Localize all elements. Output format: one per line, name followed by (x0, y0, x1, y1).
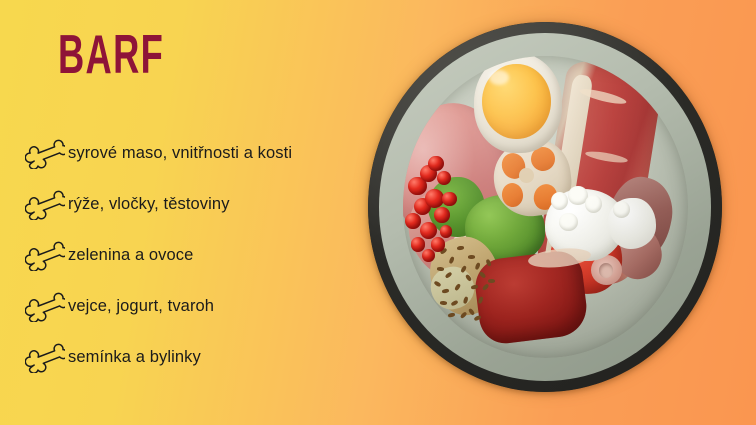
list-item-label: rýže, vločky, těstoviny (68, 195, 230, 214)
barf-components-list: syrové maso, vnitřnosti a kosti rýže, vl… (22, 128, 372, 383)
food-marrow-center (519, 168, 533, 183)
plate-surface (379, 33, 710, 381)
food-curd-lump (585, 195, 602, 213)
food-seed (448, 312, 456, 317)
food-cranberry (431, 237, 445, 251)
list-item: syrové maso, vnitřnosti a kosti (22, 128, 372, 179)
food-egg-yolk-highlight (489, 70, 509, 85)
food-cranberry (437, 171, 451, 185)
list-item: semínka a bylinky (22, 332, 372, 383)
list-item-label: syrové maso, vnitřnosti a kosti (68, 144, 292, 163)
list-item-label: vejce, jogurt, tvaroh (68, 297, 214, 316)
plate-of-raw-dog-food (368, 22, 722, 392)
list-item: zelenina a ovoce (22, 230, 372, 281)
food-cranberry (442, 192, 456, 206)
food-cranberry (425, 189, 444, 208)
plate-well (403, 56, 688, 358)
list-item: vejce, jogurt, tvaroh (22, 281, 372, 332)
bone-icon (22, 290, 68, 324)
list-item-label: semínka a bylinky (68, 348, 201, 367)
food-cranberry (428, 156, 444, 172)
bone-icon (22, 341, 68, 375)
bone-icon (22, 188, 68, 222)
bone-icon (22, 137, 68, 171)
bone-icon (22, 239, 68, 273)
food-cranberry (405, 213, 421, 229)
list-item: rýže, vločky, těstoviny (22, 179, 372, 230)
food-cranberry (434, 207, 450, 223)
food-curd-lump (559, 213, 578, 231)
food-curd-lump (551, 192, 568, 210)
food-seed (439, 300, 447, 304)
list-item-label: zelenina a ovoce (68, 246, 193, 265)
page-title: BARF (58, 27, 164, 82)
food-cranberry (411, 237, 425, 251)
food-curd-lump (613, 201, 630, 218)
poster-canvas: BARF syrové maso, vnitřnosti a kosti (0, 0, 756, 425)
